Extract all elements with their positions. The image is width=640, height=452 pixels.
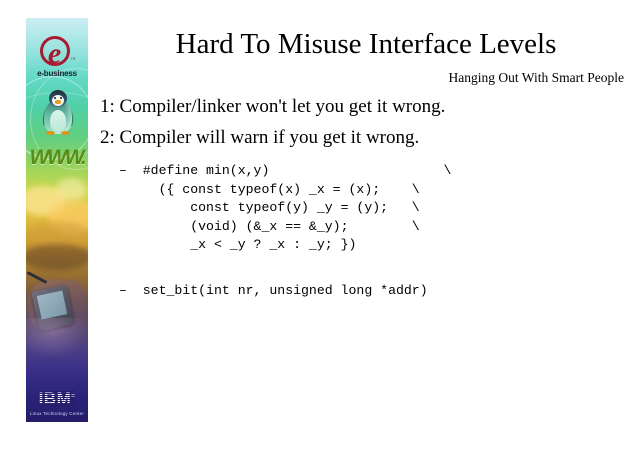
penguin-foot xyxy=(46,131,55,135)
penguin-eye xyxy=(60,97,62,99)
ibm-logo: IBM® Linux Technology Center xyxy=(26,390,88,416)
ibm-sublabel: Linux Technology Center xyxy=(26,411,88,416)
www-wordmark: WWW. xyxy=(26,146,88,170)
penguin-eye xyxy=(54,97,56,99)
slide-canvas: e™ e-business WWW. IBM® Li xyxy=(0,0,640,452)
stylus-shape xyxy=(27,271,48,284)
code-snippet-set-bit: – set_bit(int nr, unsigned long *addr) xyxy=(119,282,428,301)
trademark-icon: ™ xyxy=(71,58,76,63)
bullet-item-1: 1: Compiler/linker won't let you get it … xyxy=(100,96,445,118)
code-snippet-min-macro: – #define min(x,y) \ ({ const typeof(x) … xyxy=(119,162,451,255)
penguin-foot xyxy=(61,131,70,135)
slide-title: Hard To Misuse Interface Levels xyxy=(104,28,628,61)
ibm-branding-sidebar: e™ e-business WWW. IBM® Li xyxy=(26,18,88,422)
linux-penguin-icon xyxy=(43,90,73,134)
e-business-label: e-business xyxy=(26,70,88,78)
e-business-logo: e™ e-business xyxy=(26,36,88,78)
bullet-item-2: 2: Compiler will warn if you get it wron… xyxy=(100,127,419,149)
decorative-glow xyxy=(26,318,88,358)
decorative-shadow-blob xyxy=(26,244,88,270)
registered-icon: ® xyxy=(71,393,75,399)
penguin-beak xyxy=(55,100,61,104)
e-business-e-icon: e xyxy=(40,36,70,66)
slide-subtitle: Hanging Out With Smart People xyxy=(104,70,624,86)
ibm-wordmark-text: IBM xyxy=(39,389,72,408)
penguin-belly xyxy=(50,110,66,132)
ibm-wordmark: IBM® xyxy=(39,390,76,407)
